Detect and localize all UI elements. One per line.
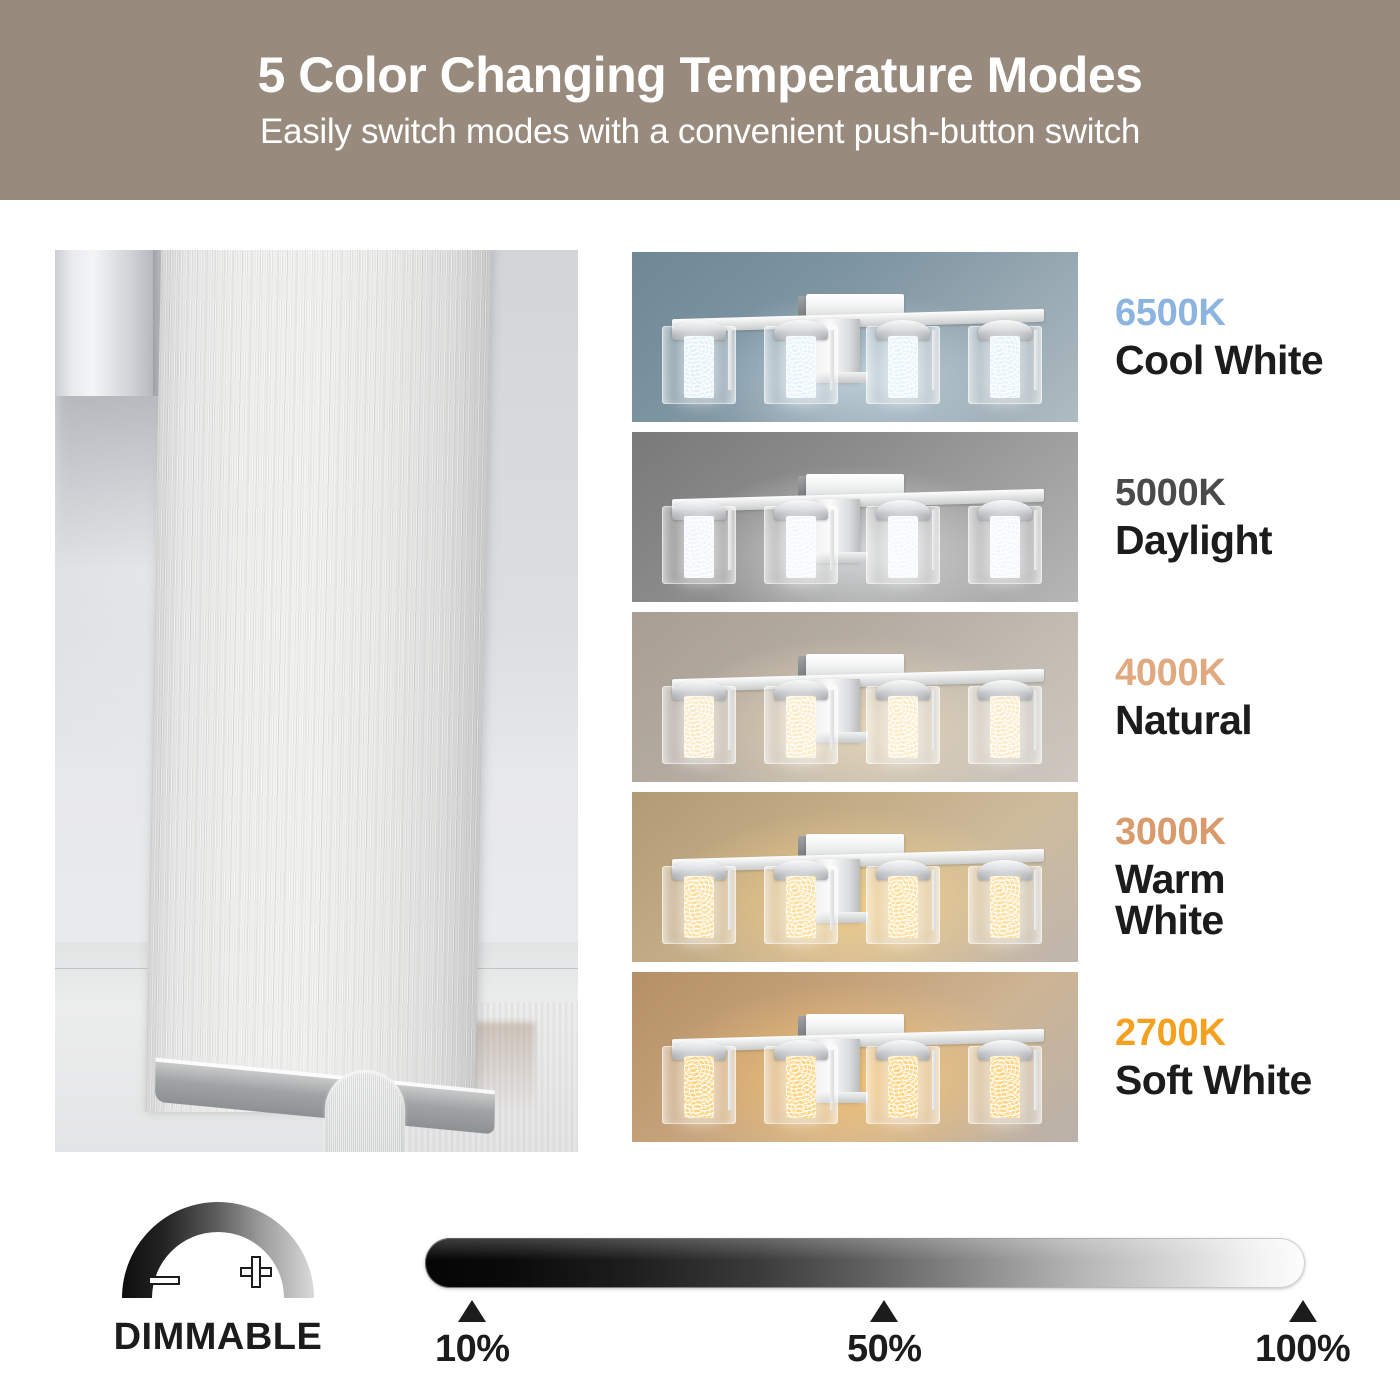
temperature-mode-row[interactable]: 2700K Soft White [632,972,1332,1142]
vanity-fixture [658,816,1054,948]
dimmer-tick-10: 10% [435,1300,510,1371]
plus-icon [240,1256,272,1288]
temperature-mode-labels: 6500K Cool White [1115,294,1323,381]
mode-name: Daylight [1115,520,1272,561]
dimmer-slider-track[interactable] [425,1238,1305,1288]
dimmable-badge: DIMMABLE [88,1192,348,1382]
temperature-mode-list: 6500K Cool White [632,252,1332,1152]
fixture-thumbnail-4000k [632,612,1078,782]
dimmer-slider[interactable]: 10% 50% 100% [425,1238,1305,1288]
triangle-marker-icon [458,1300,486,1322]
temperature-mode-labels: 3000K Warm White [1115,813,1332,941]
header-banner: 5 Color Changing Temperature Modes Easil… [0,0,1400,200]
temperature-mode-labels: 5000K Daylight [1115,474,1272,561]
dimmer-tick-label: 10% [435,1328,510,1371]
temperature-mode-row[interactable]: 3000K Warm White [632,792,1332,962]
vanity-fixture [658,636,1054,768]
dimmer-tick-50: 50% [847,1300,922,1371]
kelvin-value: 3000K [1115,813,1332,851]
minus-icon [148,1276,180,1285]
mode-name: Cool White [1115,340,1323,381]
triangle-marker-icon [1289,1300,1317,1322]
kelvin-value: 2700K [1115,1014,1312,1052]
mode-name: Warm White [1115,859,1332,941]
temperature-mode-row[interactable]: 4000K Natural [632,612,1332,782]
mount-arm-shadow [55,370,163,560]
fixture-thumbnail-2700k [632,972,1078,1142]
mode-name: Soft White [1115,1060,1312,1101]
dimmer-arc-icon [112,1192,324,1304]
vanity-fixture [658,276,1054,408]
push-button-switch-recess [325,1070,405,1152]
dimmable-label: DIMMABLE [114,1316,323,1359]
temperature-mode-row[interactable]: 5000K Daylight [632,432,1332,602]
fixture-thumbnail-3000k [632,792,1078,962]
mode-name: Natural [1115,700,1252,741]
kelvin-value: 4000K [1115,654,1252,692]
temperature-mode-labels: 2700K Soft White [1115,1014,1312,1101]
page-subtitle: Easily switch modes with a convenient pu… [260,112,1140,152]
kelvin-value: 5000K [1115,474,1272,512]
vanity-fixture [658,996,1054,1128]
brushed-nickel-backplate [145,250,492,1112]
page-title: 5 Color Changing Temperature Modes [258,49,1143,102]
product-photo [55,250,578,1152]
dimmer-tick-100: 100% [1255,1300,1350,1371]
triangle-marker-icon [870,1300,898,1322]
temperature-mode-row[interactable]: 6500K Cool White [632,252,1332,422]
dimmer-tick-label: 100% [1255,1328,1350,1371]
mounting-arm [55,250,165,396]
fixture-thumbnail-6500k [632,252,1078,422]
vanity-fixture [658,456,1054,588]
dimmer-tick-label: 50% [847,1328,922,1371]
temperature-mode-labels: 4000K Natural [1115,654,1252,741]
fixture-thumbnail-5000k [632,432,1078,602]
kelvin-value: 6500K [1115,294,1323,332]
